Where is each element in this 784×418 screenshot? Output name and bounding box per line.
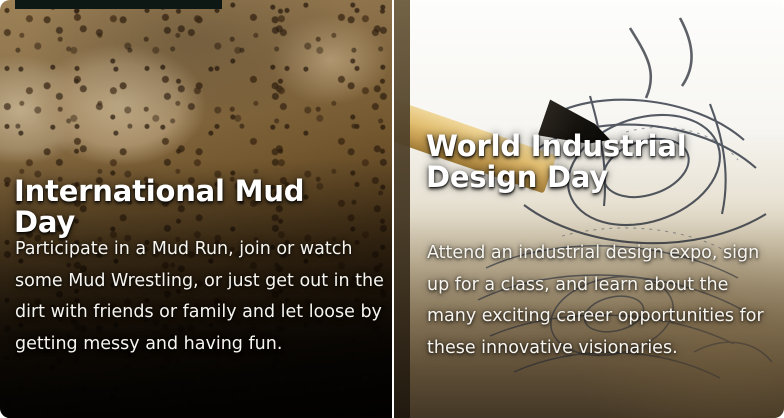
card-description: Participate in a Mud Run, join or watch …: [15, 234, 385, 360]
card-world-industrial-design-day[interactable]: World Industrial Design Day Attend an in…: [394, 0, 784, 418]
card-headline: International Mud Day: [14, 176, 374, 237]
card-content-left: International Mud Day Participate in a M…: [0, 0, 392, 418]
card-content-right: World Industrial Design Day Attend an in…: [394, 0, 784, 418]
card-description: Attend an industrial design expo, sign u…: [427, 238, 779, 364]
holiday-cards-row: International Mud Day Participate in a M…: [0, 0, 784, 418]
card-international-mud-day[interactable]: International Mud Day Participate in a M…: [0, 0, 392, 418]
card-headline: World Industrial Design Day: [426, 131, 770, 192]
